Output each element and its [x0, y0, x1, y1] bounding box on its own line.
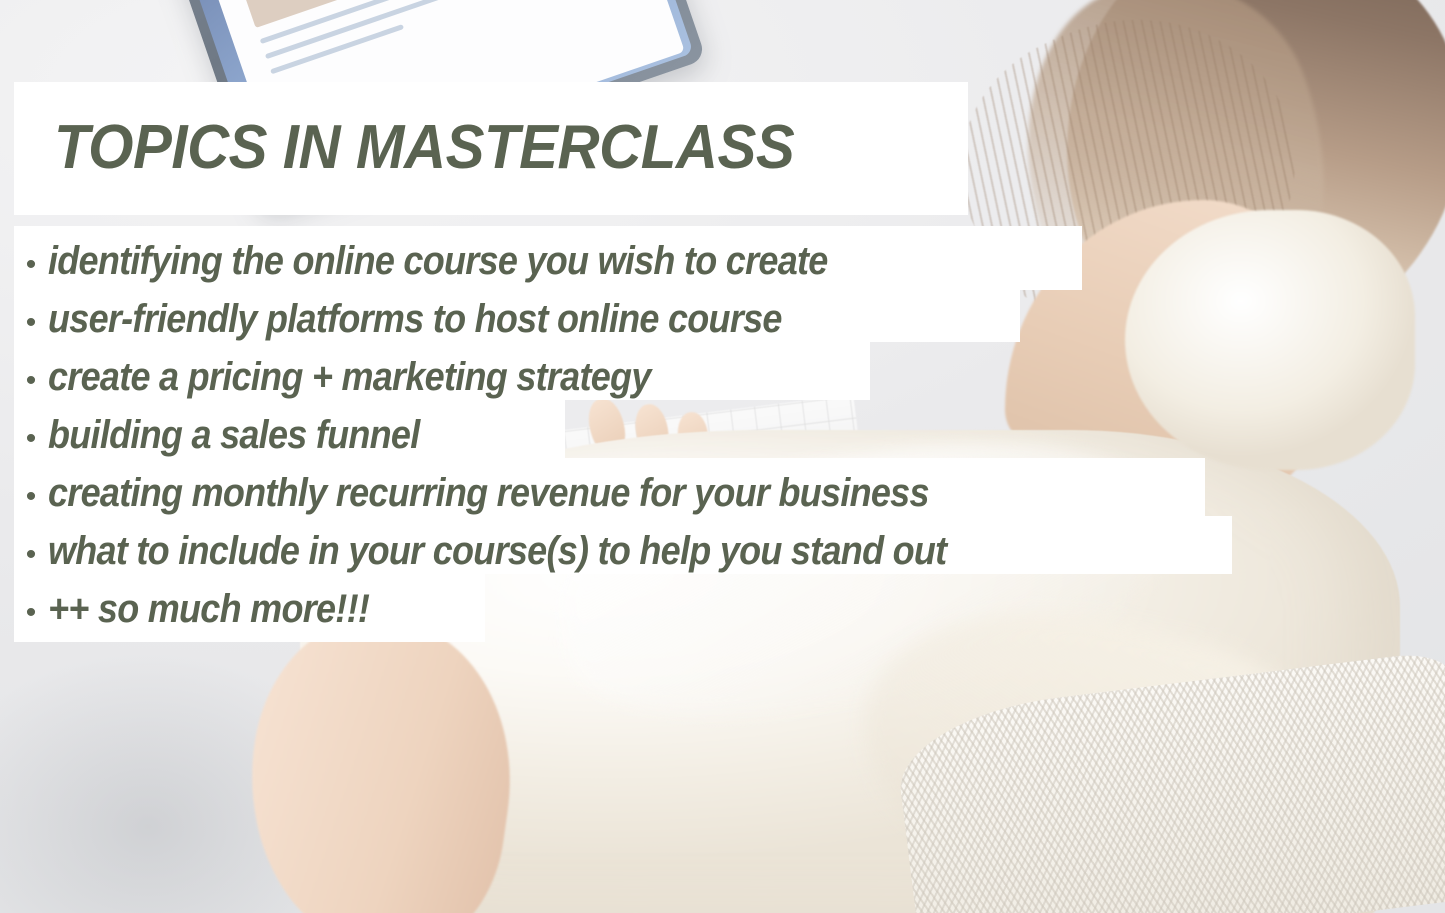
bullet-dot-icon: •	[14, 352, 48, 410]
list-item: •user-friendly platforms to host online …	[14, 290, 1244, 348]
list-item: •building a sales funnel	[14, 406, 1244, 464]
list-item: •creating monthly recurring revenue for …	[14, 464, 1244, 522]
list-item-label: create a pricing + marketing strategy	[48, 348, 651, 406]
bullet-dot-icon: •	[14, 410, 48, 468]
topics-list: •identifying the online course you wish …	[14, 232, 1244, 638]
bullet-dot-icon: •	[14, 294, 48, 352]
list-item: •what to include in your course(s) to he…	[14, 522, 1244, 580]
list-item-label: user-friendly platforms to host online c…	[48, 290, 782, 348]
list-item-label: what to include in your course(s) to hel…	[48, 522, 946, 580]
list-item: •++ so much more!!!	[14, 580, 1244, 638]
bullet-dot-icon: •	[14, 468, 48, 526]
page-title: TOPICS IN MASTERCLASS	[54, 96, 794, 200]
list-item: •create a pricing + marketing strategy	[14, 348, 1244, 406]
list-item: •identifying the online course you wish …	[14, 232, 1244, 290]
title-card: TOPICS IN MASTERCLASS	[14, 82, 968, 215]
list-item-label: building a sales funnel	[48, 406, 420, 464]
list-item-label: ++ so much more!!!	[48, 580, 369, 638]
list-item-label: identifying the online course you wish t…	[48, 232, 828, 290]
bullet-dot-icon: •	[14, 526, 48, 584]
list-item-label: creating monthly recurring revenue for y…	[48, 464, 929, 522]
slide-canvas: TOPICS IN MASTERCLASS •identifying the o…	[0, 0, 1445, 913]
bullet-dot-icon: •	[14, 236, 48, 294]
bullet-dot-icon: •	[14, 584, 48, 642]
